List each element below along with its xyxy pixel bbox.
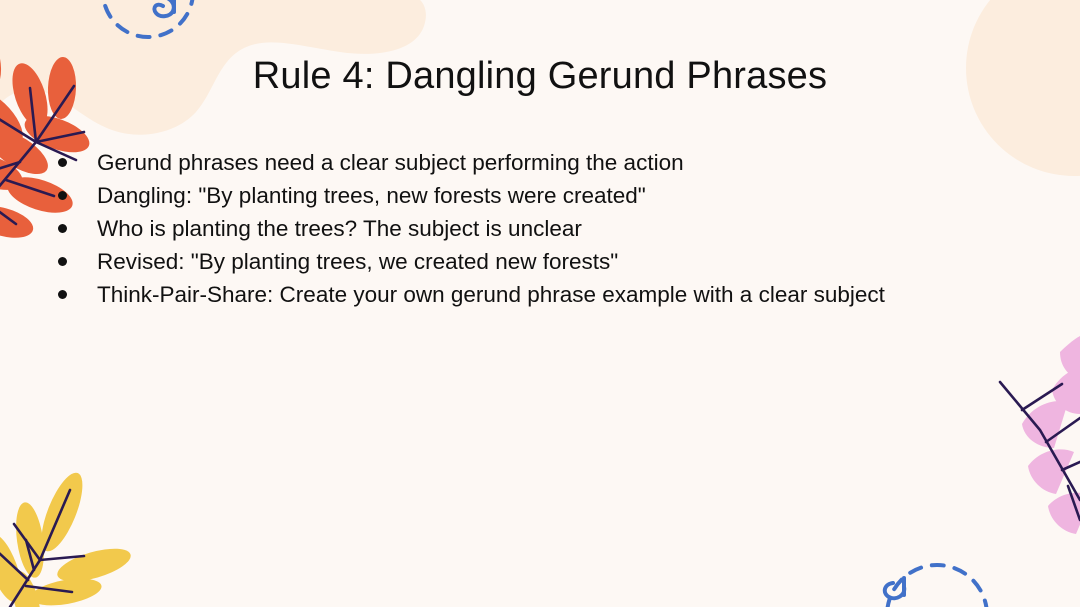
bullet-marker-icon bbox=[58, 191, 67, 200]
list-item-text: Gerund phrases need a clear subject perf… bbox=[97, 150, 684, 175]
bullet-marker-icon bbox=[58, 257, 67, 266]
list-item-text: Revised: "By planting trees, we created … bbox=[97, 249, 618, 274]
slide-canvas: Rule 4: Dangling Gerund Phrases Gerund p… bbox=[0, 0, 1080, 607]
swirl-bottom-icon bbox=[885, 583, 904, 598]
dashed-circle-top bbox=[103, 0, 193, 37]
list-item-text: Who is planting the trees? The subject i… bbox=[97, 216, 582, 241]
bullet-marker-icon bbox=[58, 290, 67, 299]
pink-leaf-branch-bottom-right bbox=[1000, 336, 1080, 534]
list-item: Revised: "By planting trees, we created … bbox=[52, 245, 932, 278]
bullet-list: Gerund phrases need a clear subject perf… bbox=[52, 146, 932, 311]
list-item: Think-Pair-Share: Create your own gerund… bbox=[52, 278, 932, 311]
list-item-text: Dangling: "By planting trees, new forest… bbox=[97, 183, 646, 208]
page-title: Rule 4: Dangling Gerund Phrases bbox=[0, 55, 1080, 98]
yellow-leaf-branch-bottom-left bbox=[0, 468, 134, 607]
list-item: Who is planting the trees? The subject i… bbox=[52, 212, 932, 245]
list-item: Gerund phrases need a clear subject perf… bbox=[52, 146, 932, 179]
list-item-text: Think-Pair-Share: Create your own gerund… bbox=[97, 282, 885, 307]
bullet-marker-icon bbox=[58, 224, 67, 233]
swirl-top-icon bbox=[154, 0, 173, 16]
bullet-marker-icon bbox=[58, 158, 67, 167]
list-item: Dangling: "By planting trees, new forest… bbox=[52, 179, 932, 212]
dashed-circle-bottom-right bbox=[887, 565, 987, 607]
